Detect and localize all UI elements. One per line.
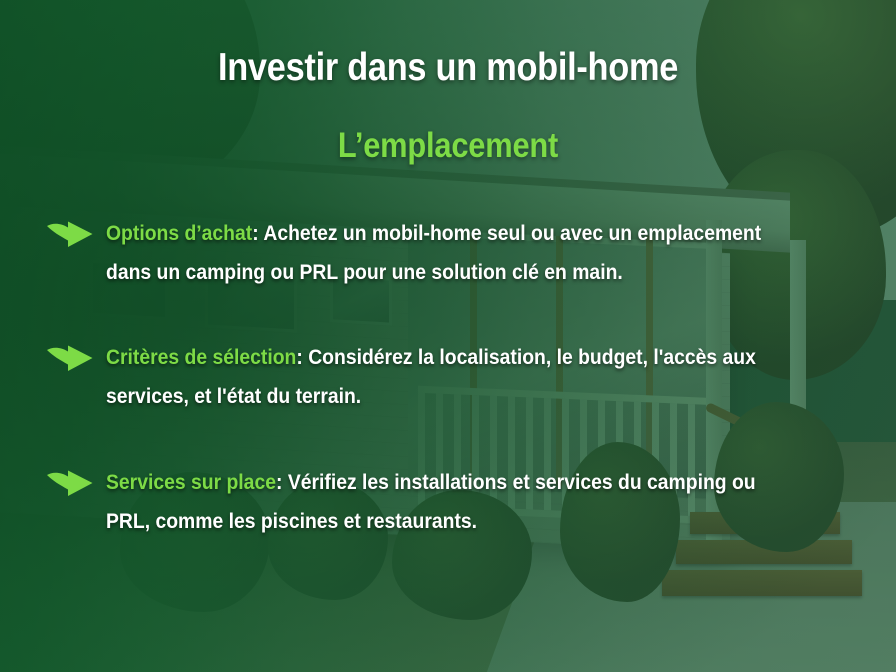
infographic-slide: Investir dans un mobil-home L’emplacemen… [0,0,896,672]
slide-content: Investir dans un mobil-home L’emplacemen… [0,0,896,672]
bullet-item-services-sur-place: Services sur place: Vérifiez les install… [46,463,860,541]
curved-arrow-right-icon [46,344,94,378]
bullet-label: Services sur place [106,470,276,494]
slide-subtitle: L’emplacement [54,126,842,166]
curved-arrow-right-icon [46,469,94,503]
bullet-text: Services sur place: Vérifiez les install… [106,463,785,541]
curved-arrow-right-icon [46,220,94,254]
bullet-list: Options d’achat: Achetez un mobil-home s… [46,214,860,587]
bullet-item-options-dachat: Options d’achat: Achetez un mobil-home s… [46,214,860,292]
slide-title: Investir dans un mobil-home [54,46,842,90]
bullet-separator: : [296,345,302,369]
bullet-label: Critères de sélection [106,345,296,369]
bullet-text: Critères de sélection: Considérez la loc… [106,338,785,416]
bullet-label: Options d’achat [106,221,252,245]
bullet-text: Options d’achat: Achetez un mobil-home s… [106,214,785,292]
bullet-separator: : [252,221,258,245]
bullet-separator: : [276,470,282,494]
bullet-item-criteres-de-selection: Critères de sélection: Considérez la loc… [46,338,860,416]
